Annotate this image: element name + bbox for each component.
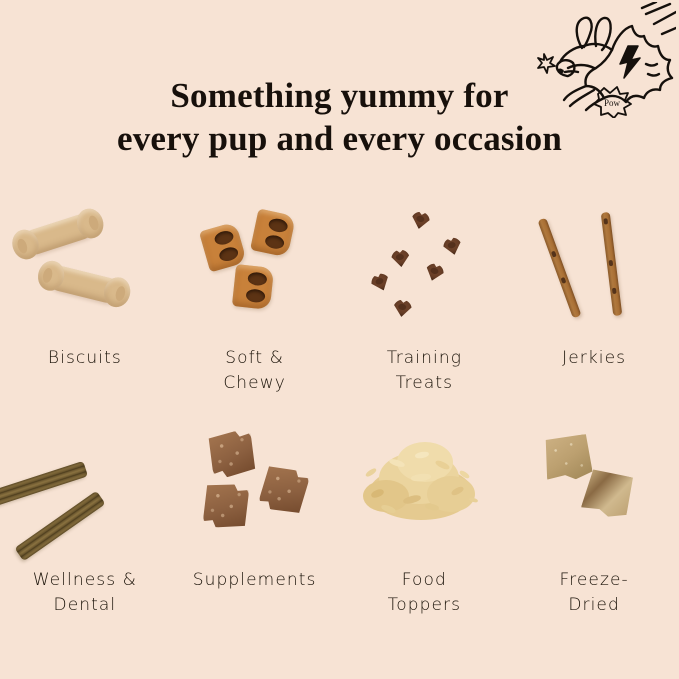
category-row-1: Biscuits Soft & Chewy [0, 196, 679, 418]
category-label: Freeze- Dried [559, 568, 628, 618]
freeze-dried-cubes-icon [519, 418, 669, 560]
powder-pile-icon [349, 418, 499, 560]
promo-graphic: Something yummy for every pup and every … [0, 0, 679, 679]
category-cell-wellness-dental[interactable]: Wellness & Dental [0, 418, 170, 644]
bone-biscuits-icon [10, 196, 160, 338]
square-supplement-chews-icon [180, 418, 330, 560]
category-label: Soft & Chewy [223, 346, 286, 396]
category-label: Jerkies [562, 346, 626, 371]
category-label: Supplements [193, 568, 317, 593]
category-cell-food-toppers[interactable]: Food Toppers [340, 418, 510, 644]
category-cell-soft-chewy[interactable]: Soft & Chewy [170, 196, 340, 418]
ridged-dental-sticks-icon [10, 418, 160, 560]
category-label: Wellness & Dental [33, 568, 137, 618]
category-row-2: Wellness & Dental Supplements [0, 418, 679, 644]
heart-training-bits-icon [349, 196, 499, 338]
category-cell-training-treats[interactable]: Training Treats [340, 196, 510, 418]
b-letter-chews-icon [180, 196, 330, 338]
category-cell-supplements[interactable]: Supplements [170, 418, 340, 644]
dog-lightning-doodle-icon: Pow [524, 2, 676, 118]
category-label: Biscuits [48, 346, 122, 371]
category-grid: Biscuits Soft & Chewy [0, 196, 679, 644]
category-label: Training Treats [387, 346, 462, 396]
category-cell-freeze-dried[interactable]: Freeze- Dried [509, 418, 679, 644]
pow-text: Pow [604, 98, 621, 108]
category-label: Food Toppers [388, 568, 461, 618]
category-cell-jerkies[interactable]: Jerkies [509, 196, 679, 418]
category-cell-biscuits[interactable]: Biscuits [0, 196, 170, 418]
jerky-sticks-icon [519, 196, 669, 338]
headline-line-2: every pup and every occasion [0, 117, 679, 160]
